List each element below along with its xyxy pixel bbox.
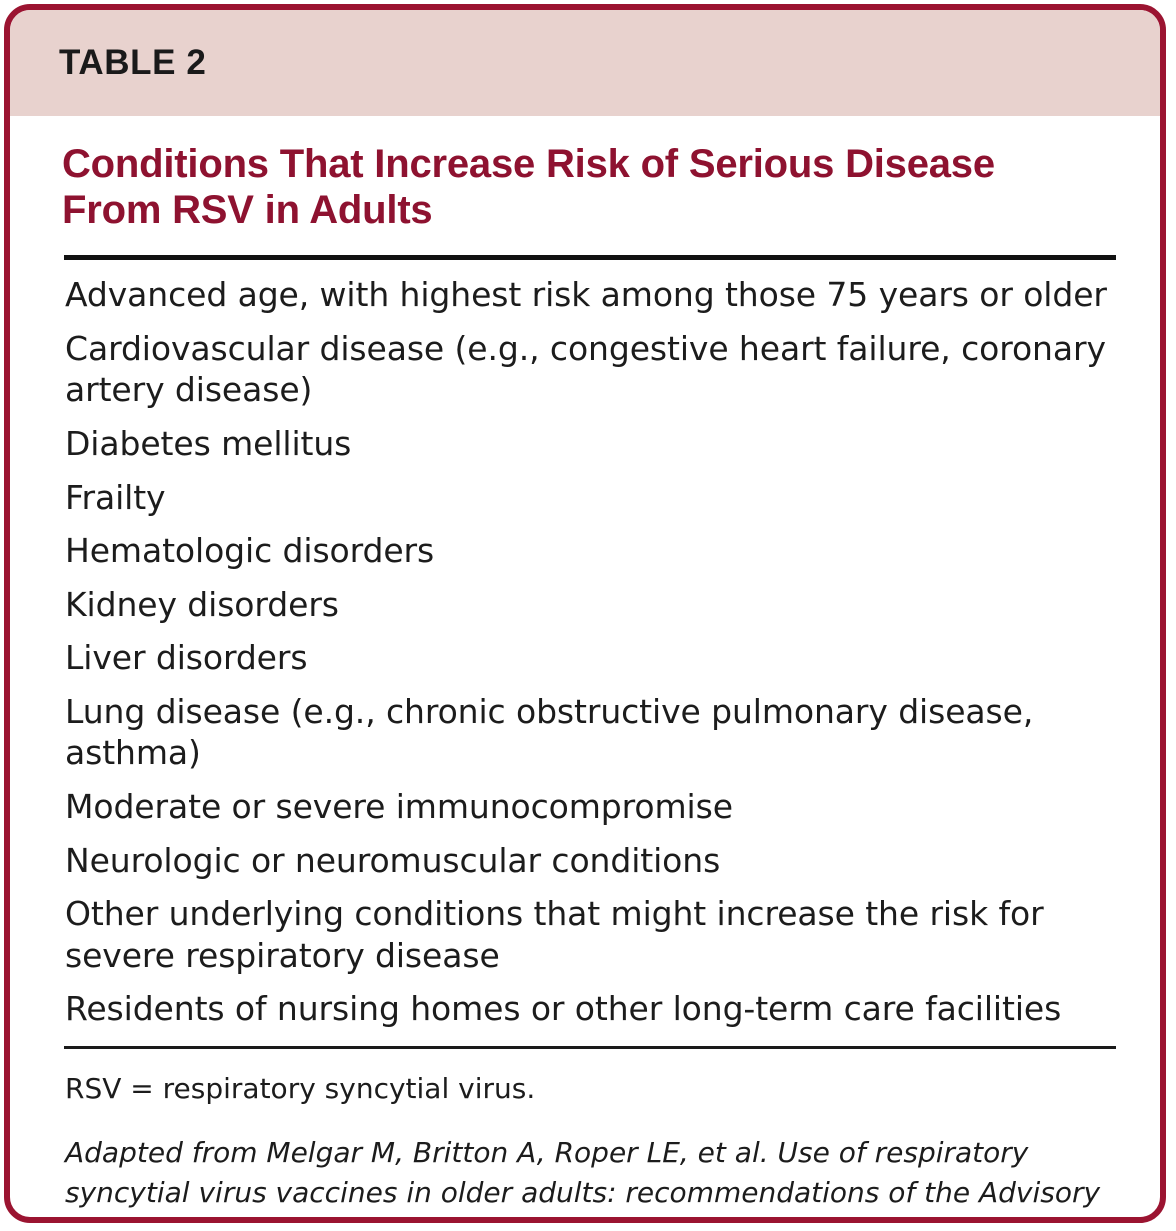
table-row: Advanced age, with highest risk among th… <box>65 274 1114 316</box>
table-row: Lung disease (e.g., chronic obstructive … <box>65 691 1114 774</box>
page-title: Conditions That Increase Risk of Serious… <box>62 142 1072 233</box>
table-title-container: Conditions That Increase Risk of Serious… <box>10 116 1160 233</box>
abbreviation-footnote: RSV = respiratory syncytial virus. <box>65 1071 1112 1107</box>
citation-title-italic: Adapted from Melgar M, Britton A, Roper … <box>65 1136 1100 1223</box>
table-footnotes: RSV = respiratory syncytial virus. Adapt… <box>10 1049 1160 1223</box>
table-row: Residents of nursing homes or other long… <box>65 988 1114 1030</box>
table-row: Neurologic or neuromuscular conditions <box>65 840 1114 882</box>
table-row: Kidney disorders <box>65 584 1114 626</box>
table-row: Diabetes mellitus <box>65 423 1114 465</box>
table-row: Frailty <box>65 477 1114 519</box>
table-header-band: TABLE 2 <box>10 10 1160 116</box>
table-number-label: TABLE 2 <box>59 43 206 83</box>
table-body: Advanced age, with highest risk among th… <box>10 260 1160 1030</box>
table-row: Liver disorders <box>65 637 1114 679</box>
table-row: Moderate or severe immunocompromise <box>65 786 1114 828</box>
source-citation: Adapted from Melgar M, Britton A, Roper … <box>65 1133 1112 1223</box>
table-row: Other underlying conditions that might i… <box>65 893 1114 976</box>
table-row: Hematologic disorders <box>65 530 1114 572</box>
table-row: Cardiovascular disease (e.g., congestive… <box>65 328 1114 411</box>
table-card: TABLE 2 Conditions That Increase Risk of… <box>4 4 1166 1223</box>
